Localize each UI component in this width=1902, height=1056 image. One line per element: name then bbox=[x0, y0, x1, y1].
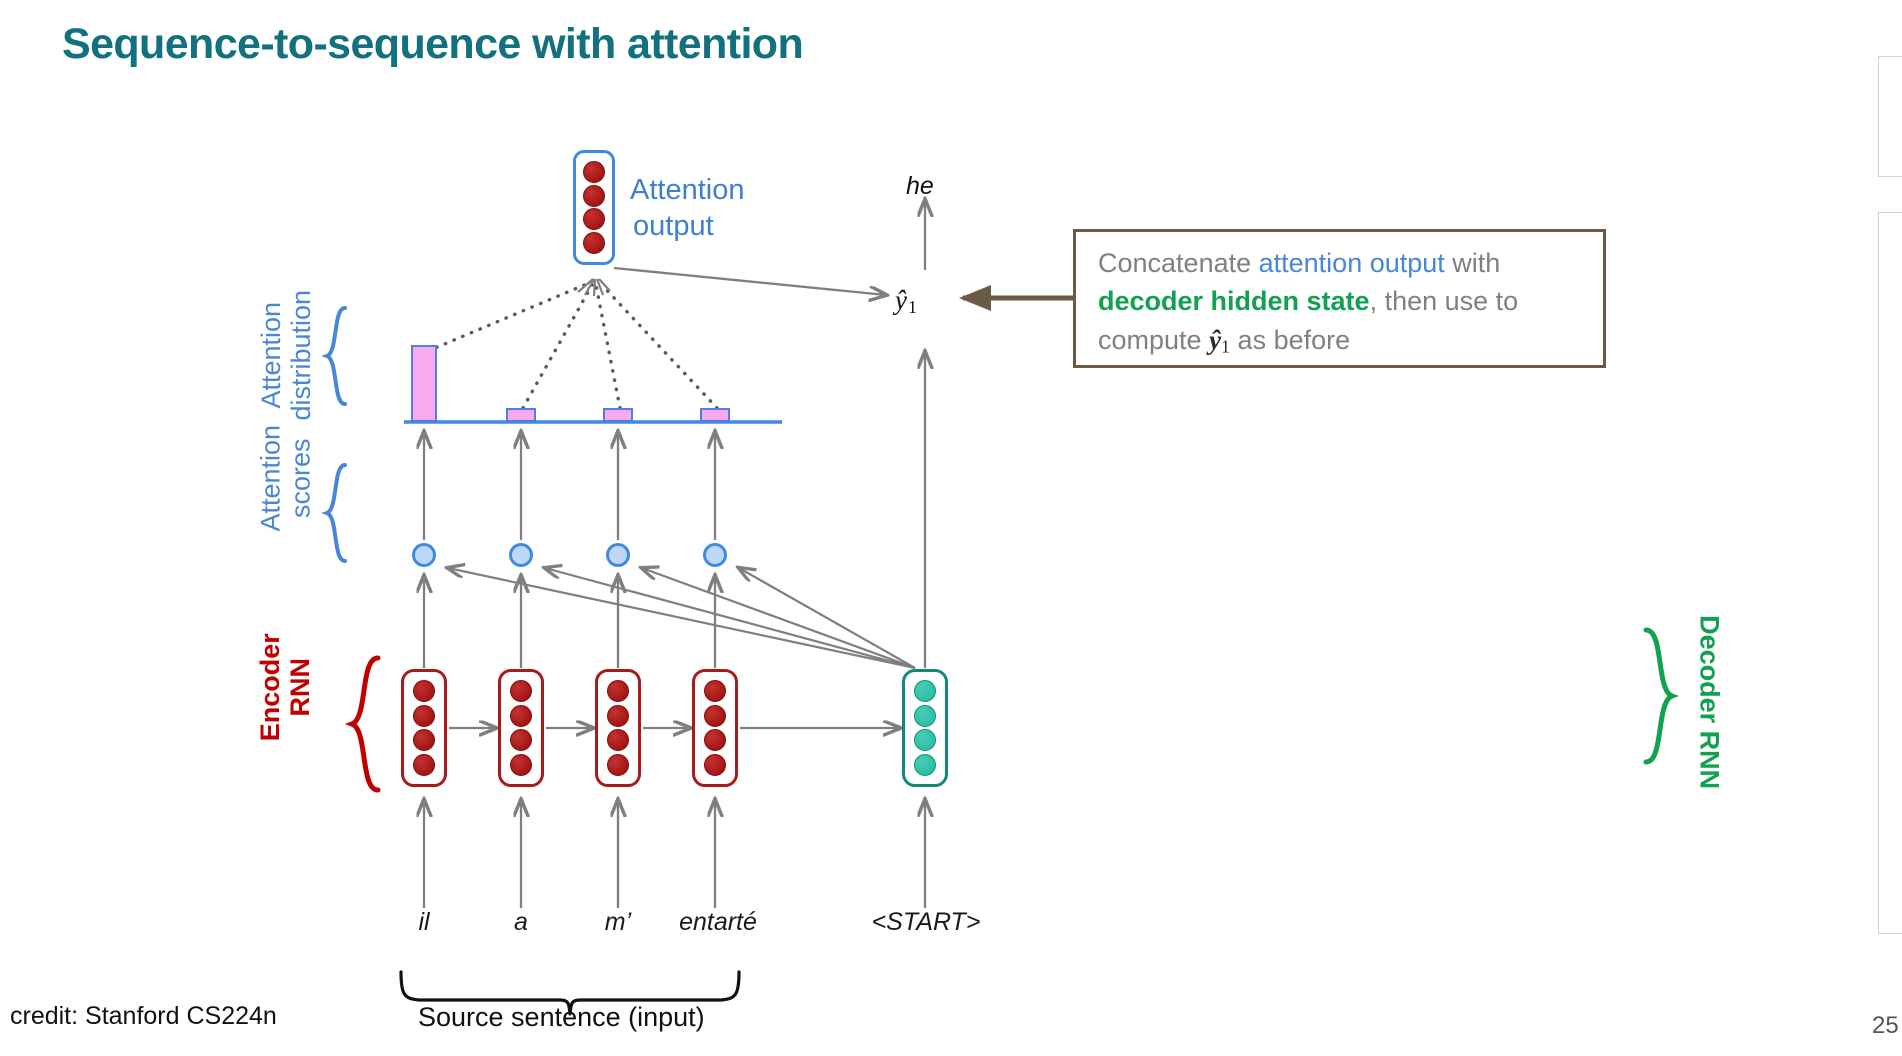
attention-scores-label-line2: scores bbox=[286, 371, 316, 586]
encoder-unit bbox=[510, 729, 532, 751]
callout-text-part1: Concatenate bbox=[1098, 248, 1259, 278]
slide-thumbnail-fragment-1[interactable] bbox=[1878, 56, 1902, 177]
encoder-unit bbox=[413, 729, 435, 751]
callout-highlight-attention-output: attention output bbox=[1259, 248, 1445, 278]
attention-bar-il bbox=[411, 345, 437, 422]
attention-score-mprime bbox=[606, 543, 630, 567]
callout-box: Concatenate attention output with decode… bbox=[1073, 229, 1606, 368]
encoder-unit bbox=[704, 705, 726, 727]
callout-text-part2: with bbox=[1445, 248, 1501, 278]
yhat-symbol: ŷ bbox=[895, 285, 907, 315]
encoder-rnn-label: Encoder RNN bbox=[255, 602, 315, 772]
decoder-unit bbox=[914, 680, 936, 702]
encoder-unit bbox=[607, 729, 629, 751]
attention-score-il bbox=[412, 543, 436, 567]
page-number: 25 bbox=[1872, 1012, 1902, 1048]
attention-bar-a bbox=[506, 408, 536, 422]
decoder-cell-1 bbox=[902, 669, 948, 787]
encoder-rnn-label-line1: Encoder bbox=[255, 602, 285, 772]
source-sentence-caption: Source sentence (input) bbox=[418, 1002, 705, 1033]
encoder-unit bbox=[413, 705, 435, 727]
credit-text: credit: Stanford CS224n bbox=[10, 1002, 277, 1031]
callout-yhat-symbol: ŷ bbox=[1209, 325, 1221, 355]
attention-output-label-line2: output bbox=[633, 208, 744, 244]
source-token-a: a bbox=[491, 908, 551, 937]
encoder-unit bbox=[510, 680, 532, 702]
encoder-cell-3 bbox=[595, 669, 641, 787]
output-word-he: he bbox=[906, 172, 934, 201]
source-token-entarte: entarté bbox=[655, 908, 781, 937]
encoder-unit bbox=[510, 754, 532, 776]
callout-text-part4: as before bbox=[1230, 325, 1350, 355]
decoder-unit bbox=[914, 705, 936, 727]
attention-score-a bbox=[509, 543, 533, 567]
attention-output-box bbox=[573, 150, 615, 265]
decoder-rnn-label: Decoder RNN bbox=[1694, 605, 1724, 800]
yhat-1-label: ŷ1 bbox=[895, 285, 917, 318]
slide-canvas: Sequence-to-sequence with attention bbox=[0, 0, 1902, 1056]
page-title: Sequence-to-sequence with attention bbox=[62, 20, 803, 69]
slide-thumbnail-fragment-2[interactable] bbox=[1878, 212, 1902, 934]
encoder-rnn-label-line2: RNN bbox=[285, 602, 315, 772]
source-token-il: il bbox=[394, 908, 454, 937]
attention-output-cell bbox=[583, 161, 605, 183]
attention-output-cell bbox=[583, 185, 605, 207]
encoder-unit bbox=[413, 680, 435, 702]
attention-output-cell bbox=[583, 208, 605, 230]
yhat-subscript: 1 bbox=[908, 297, 917, 317]
encoder-cell-2 bbox=[498, 669, 544, 787]
attention-output-label: Attention output bbox=[630, 172, 744, 245]
encoder-unit bbox=[704, 729, 726, 751]
decoder-unit bbox=[914, 729, 936, 751]
decoder-unit bbox=[914, 754, 936, 776]
encoder-unit bbox=[413, 754, 435, 776]
attention-bar-mprime bbox=[603, 408, 633, 422]
attention-output-cell bbox=[583, 232, 605, 254]
encoder-unit bbox=[704, 754, 726, 776]
encoder-unit bbox=[607, 705, 629, 727]
source-token-mprime: m’ bbox=[588, 908, 648, 937]
callout-highlight-decoder-hidden-state: decoder hidden state bbox=[1098, 286, 1370, 316]
attention-scores-label-line1: Attention bbox=[255, 371, 285, 586]
attention-score-entarte bbox=[703, 543, 727, 567]
callout-yhat-subscript: 1 bbox=[1221, 336, 1230, 356]
encoder-unit bbox=[607, 754, 629, 776]
encoder-cell-1 bbox=[401, 669, 447, 787]
encoder-unit bbox=[510, 705, 532, 727]
encoder-unit bbox=[704, 680, 726, 702]
encoder-unit bbox=[607, 680, 629, 702]
attention-output-label-line1: Attention bbox=[630, 172, 744, 208]
attention-scores-label: Attention scores bbox=[255, 371, 315, 586]
callout-yhat: ŷ1 bbox=[1209, 325, 1230, 355]
attention-bar-entarte bbox=[700, 408, 730, 422]
encoder-cell-4 bbox=[692, 669, 738, 787]
decoder-token-start: <START> bbox=[846, 908, 1006, 937]
